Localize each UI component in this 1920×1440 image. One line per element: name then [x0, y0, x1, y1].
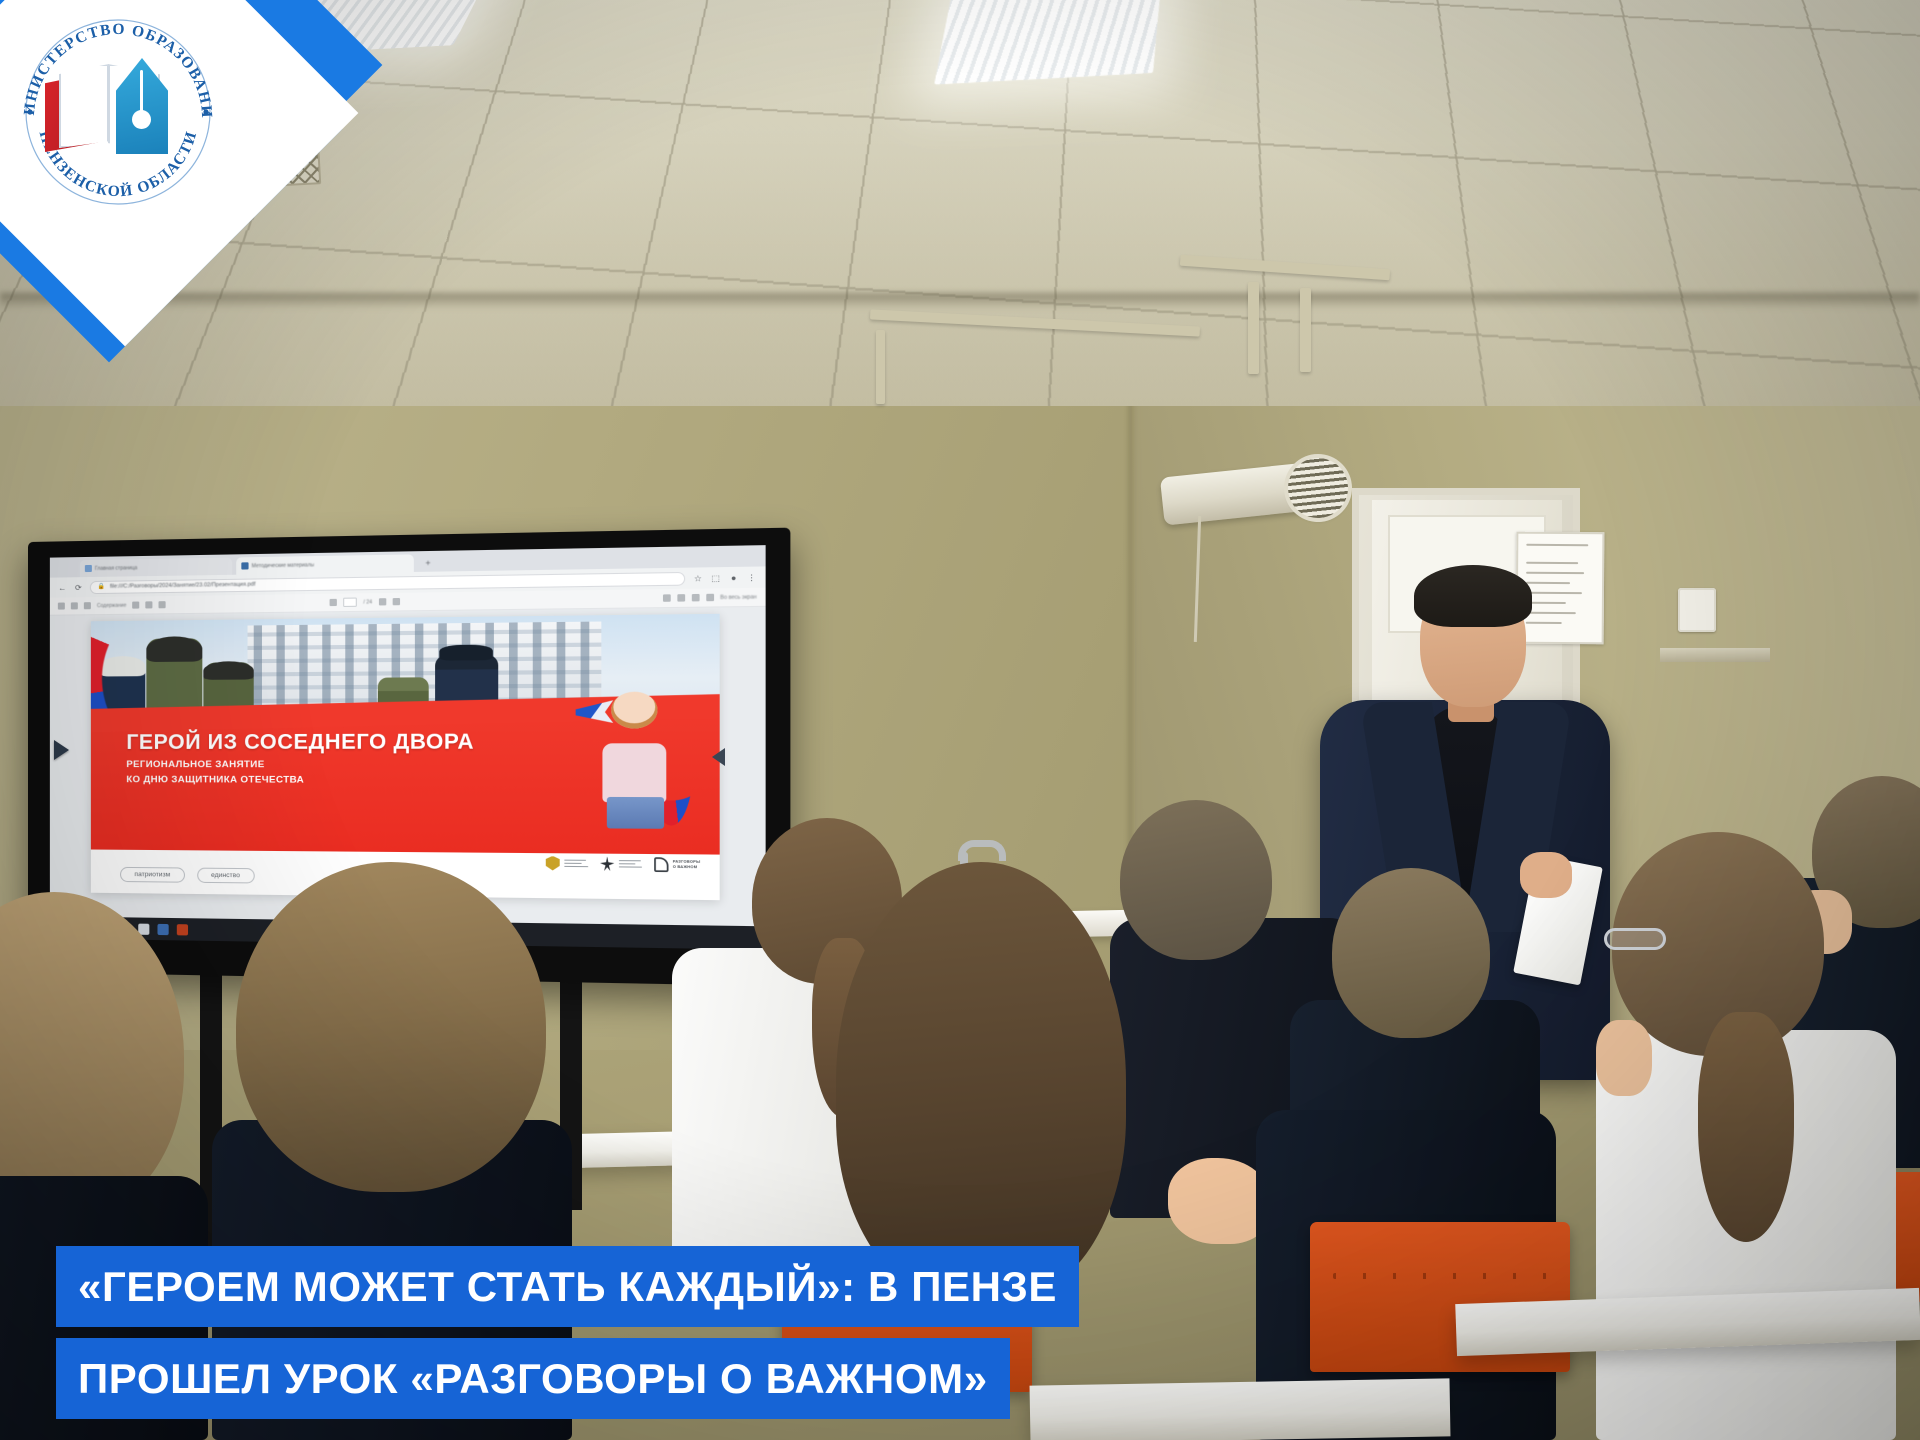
light-switch[interactable]: [1678, 588, 1716, 632]
slide-logo-row: РАЗГОВОРЫО ВАЖНОМ: [546, 856, 701, 872]
page-total-label: / 24: [363, 599, 372, 605]
caption-text-line2: ПРОШЕЛ УРОК «РАЗГОВОРЫ О ВАЖНОМ»: [56, 1338, 1010, 1419]
wall-cable-trunking: [1248, 282, 1259, 374]
student-ponytail: [1698, 1012, 1794, 1242]
boy-legs: [607, 797, 665, 829]
lock-icon: 🔒: [97, 582, 106, 591]
extensions-icon[interactable]: ⬚: [711, 573, 721, 583]
profile-avatar-icon[interactable]: ●: [729, 573, 739, 583]
glasses-icon: [1604, 928, 1666, 950]
student-long-hair: [836, 862, 1126, 1302]
presenter-hair: [1414, 565, 1532, 627]
emblem-nib-hole: [132, 110, 151, 129]
pdf-zoom-label[interactable]: Во весь экран: [720, 594, 756, 601]
bookmark-star-icon[interactable]: ☆: [693, 573, 703, 583]
page-number-input[interactable]: [343, 598, 357, 607]
led-panel-light: [934, 0, 1161, 85]
caption-banner-line2: ПРОШЕЛ УРОК «РАЗГОВОРЫ О ВАЖНОМ»: [56, 1338, 1010, 1419]
rotate-icon[interactable]: [392, 598, 399, 605]
student-head: [1332, 868, 1490, 1038]
print-icon[interactable]: [662, 594, 670, 601]
tab-favicon-icon: [85, 565, 92, 572]
word-icon[interactable]: [158, 923, 169, 934]
page-down-icon[interactable]: [378, 598, 385, 605]
slide-subtitle-line1: РЕГИОНАЛЬНОЕ ЗАНЯТИЕ: [126, 757, 304, 773]
boy-head: [611, 691, 658, 728]
presentation-slide: ГЕРОЙ ИЗ СОСЕДНЕГО ДВОРА РЕГИОНАЛЬНОЕ ЗА…: [90, 614, 720, 900]
student-head: [236, 862, 546, 1192]
wall-cable-trunking: [1300, 288, 1311, 372]
emblem-nib-slit: [140, 70, 143, 114]
pdf-icon[interactable]: [177, 924, 188, 935]
zoom-out-icon[interactable]: [132, 601, 139, 608]
caption-banner-line1: «ГЕРОЕМ МОЖЕТ СТАТЬ КАЖДЫЙ»: В ПЕНЗЕ: [56, 1246, 1079, 1327]
pdf-menu-label[interactable]: Содержание: [97, 602, 126, 608]
outline-icon[interactable]: [84, 602, 91, 609]
sidebar-toggle-icon[interactable]: [58, 603, 65, 610]
running-boy-photo: [582, 686, 693, 829]
download-icon[interactable]: [677, 594, 685, 602]
razgovory-o-vazhnom-logo-icon: РАЗГОВОРЫО ВАЖНОМ: [654, 857, 700, 872]
fit-page-icon[interactable]: [159, 601, 166, 608]
slide-tag: единство: [197, 868, 255, 884]
new-tab-button[interactable]: +: [420, 554, 437, 572]
institute-mark-icon: [600, 856, 642, 871]
reload-icon[interactable]: ⟳: [74, 583, 83, 592]
slide-tag-list: патриотизм единство: [120, 867, 254, 884]
slide-subtitle-line2: КО ДНЮ ЗАЩИТНИКА ОТЕЧЕСТВА: [126, 773, 304, 789]
fullscreen-icon[interactable]: [691, 594, 699, 602]
display-nav-left-arrow-icon[interactable]: [712, 748, 725, 766]
wall-ledge: [1660, 648, 1770, 662]
slide-tag: патриотизм: [120, 867, 184, 883]
display-play-button-icon[interactable]: [54, 740, 69, 760]
paper-plane-icon: [576, 700, 614, 723]
ministry-logo-corner: МИНИСТЕРСТВО ОБРАЗОВАНИЯ ПЕНЗЕНСКОЙ ОБЛА…: [0, 0, 270, 290]
tab-title: Методические материалы: [252, 562, 315, 569]
student-head: [1120, 800, 1272, 960]
pen-tool-icon[interactable]: [706, 594, 714, 602]
slide-title: ГЕРОЙ ИЗ СОСЕДНЕГО ДВОРА: [126, 730, 474, 755]
address-bar-url: file:///C:/Разговоры/2024/Занятие/23.02/…: [110, 582, 255, 590]
classroom-scene: Главная страница Методические материалы …: [0, 0, 1920, 1440]
russian-coat-of-arms-icon: [546, 856, 588, 871]
thumbnails-icon[interactable]: [71, 602, 78, 609]
wall-cable-trunking: [876, 330, 885, 404]
student-hand: [1596, 1020, 1652, 1096]
desk: [1030, 1378, 1451, 1440]
page-up-icon[interactable]: [330, 599, 337, 606]
browser-chrome: Главная страница Методические материалы …: [50, 545, 766, 616]
browser-menu-icon[interactable]: ⋮: [747, 572, 757, 582]
razgovory-logo-caption: РАЗГОВОРЫО ВАЖНОМ: [673, 859, 700, 869]
tab-title: Главная страница: [95, 565, 137, 572]
caption-text-line1: «ГЕРОЕМ МОЖЕТ СТАТЬ КАЖДЫЙ»: В ПЕНЗЕ: [56, 1246, 1079, 1327]
emblem-book-page-left: [59, 64, 109, 148]
zoom-in-icon[interactable]: [146, 601, 153, 608]
ministry-emblem: МИНИСТЕРСТВО ОБРАЗОВАНИЯ ПЕНЗЕНСКОЙ ОБЛА…: [12, 6, 224, 218]
slide-subtitle: РЕГИОНАЛЬНОЕ ЗАНЯТИЕ КО ДНЮ ЗАЩИТНИКА ОТ…: [126, 757, 304, 788]
screenshot-root: Главная страница Методические материалы …: [0, 0, 1920, 1440]
tab-favicon-icon: [241, 562, 248, 569]
presenter-hand: [1520, 852, 1572, 898]
back-arrow-icon[interactable]: ←: [58, 583, 67, 592]
boy-body: [602, 743, 667, 803]
ceiling-edge-shadow: [0, 293, 1920, 309]
